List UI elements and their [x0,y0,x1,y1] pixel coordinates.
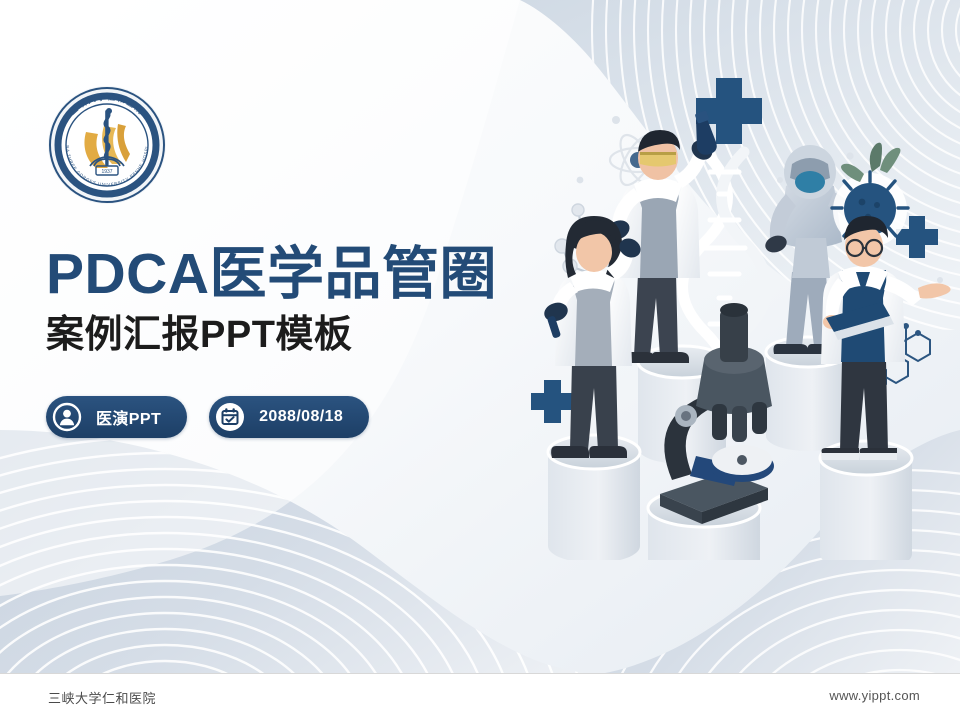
date-pill[interactable]: 2088/08/18 [209,396,369,438]
presentation-slide: 1937 三峡大学仁和医院 CHINA THREE GORGES UNIVERS… [0,0,960,720]
person-icon [52,402,82,432]
author-label: 医演PPT [96,405,161,429]
university-logo: 1937 三峡大学仁和医院 CHINA THREE GORGES UNIVERS… [46,84,168,206]
footer-organization: 三峡大学仁和医院 [48,688,156,707]
footer-website[interactable]: www.yippt.com [829,688,920,703]
medical-illustration [520,60,960,560]
date-label: 2088/08/18 [259,408,343,426]
logo-year: 1937 [101,169,112,175]
page-title: PDCA医学品管圈 [46,243,566,305]
calendar-icon [215,402,245,432]
illustration-svg [520,60,960,560]
page-subtitle: 案例汇报PPT模板 [46,313,566,357]
logo-emblem-icon: 1937 三峡大学仁和医院 CHINA THREE GORGES UNIVERS… [46,84,168,206]
meta-row: 医演PPT 2088/08/18 [46,396,369,438]
title-block: PDCA医学品管圈 案例汇报PPT模板 [46,243,566,357]
slide-footer: 三峡大学仁和医院 www.yippt.com [0,673,960,720]
author-pill[interactable]: 医演PPT [46,396,187,438]
